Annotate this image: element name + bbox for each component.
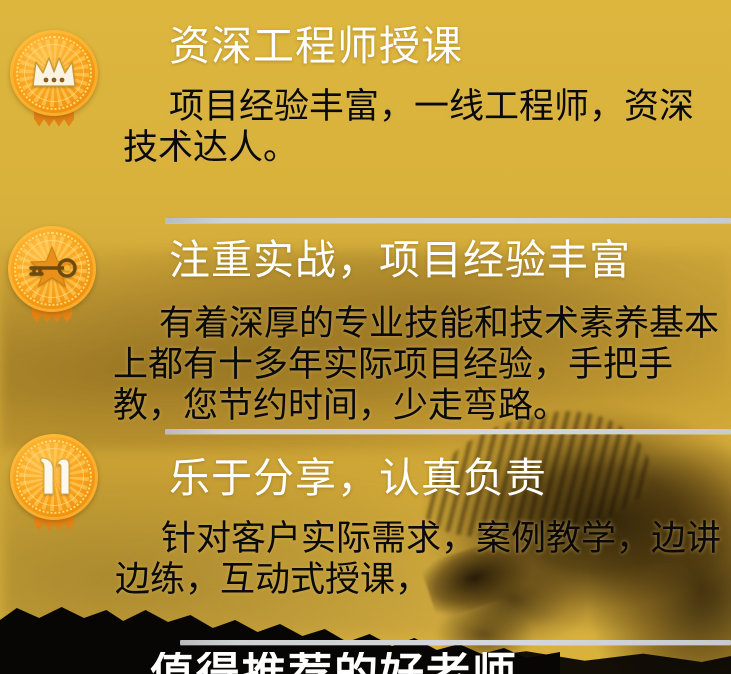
crown-glyph xyxy=(6,28,102,116)
section-divider-2 xyxy=(165,429,731,434)
ribbon-medal-icon xyxy=(6,432,102,540)
key-medal-icon xyxy=(4,224,100,332)
section-title-1: 资深工程师授课 xyxy=(169,26,463,67)
promo-poster: 资深工程师授课 项目经验丰富，一线工程师，资深技术达人。 注重实战，项目经验丰富… xyxy=(0,0,731,674)
section-body-2: 有着深厚的专业技能和技术素养基本上都有十多年实际项目经验，手把手教，您节约时间，… xyxy=(113,303,729,426)
section-divider-3 xyxy=(180,640,731,645)
footer-headline-partial: 值得推荐的好老师 xyxy=(150,652,710,674)
crown-medal-icon xyxy=(6,28,102,136)
section-title-2: 注重实战，项目经验丰富 xyxy=(169,240,631,281)
section-divider-1 xyxy=(165,218,731,223)
section-body-3: 针对客户实际需求，案例教学，边讲边练，互动式授课， xyxy=(115,518,727,600)
section-title-3: 乐于分享，认真负责 xyxy=(169,458,547,499)
key-star-glyph xyxy=(4,224,100,312)
section-body-1: 项目经验丰富，一线工程师，资深技术达人。 xyxy=(123,86,723,168)
ribbon-glyph xyxy=(6,432,102,520)
